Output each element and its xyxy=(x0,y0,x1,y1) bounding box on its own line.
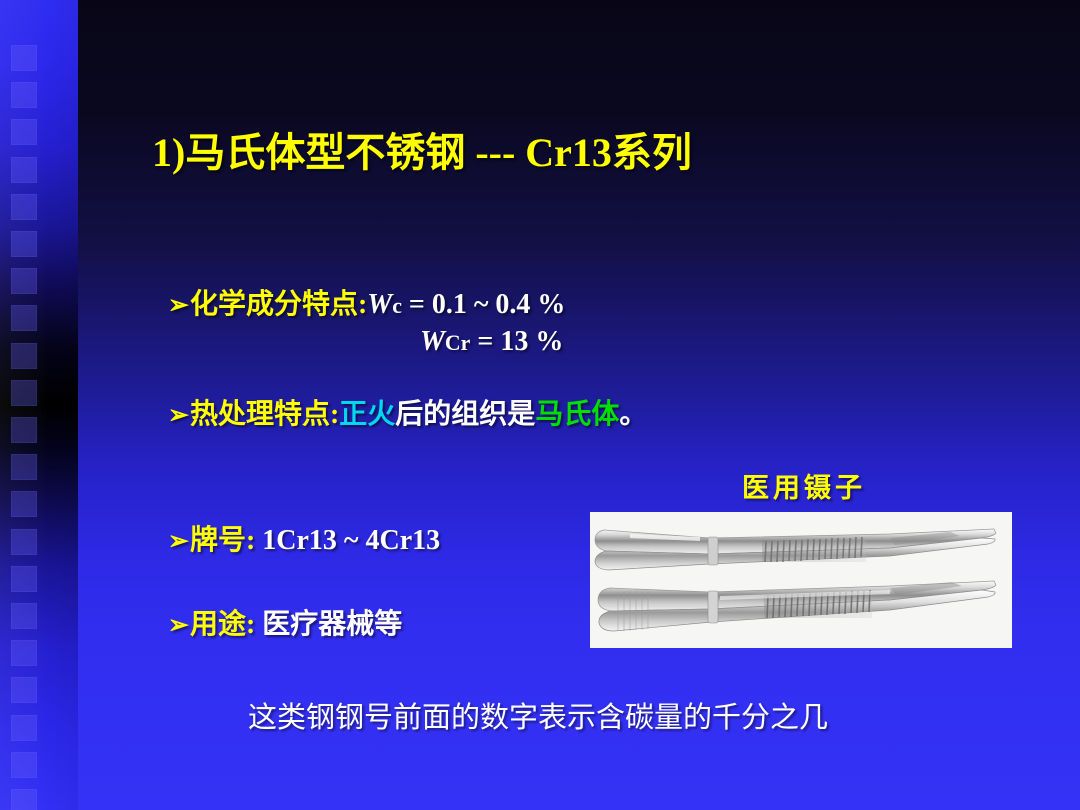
sidebar-chip xyxy=(11,380,37,406)
sidebar-chip xyxy=(11,343,37,369)
bullet-chemical-composition: ➢化学成分特点:Wc = 0.1 ~ 0.4 % xyxy=(168,282,565,322)
subscript-chromium: Cr xyxy=(445,331,470,355)
sidebar-chip xyxy=(11,417,37,443)
bullet-label-applications: 用途: xyxy=(190,609,255,640)
sidebar-chip xyxy=(11,640,37,666)
sidebar-chip xyxy=(11,491,37,517)
bullet-label-steel-grades: 牌号: xyxy=(190,525,255,556)
term-martensite: 马氏体 xyxy=(535,399,619,430)
bullet-label-chemical-composition: 化学成分特点: xyxy=(190,289,367,320)
medical-tweezers-photo xyxy=(590,512,1012,648)
footer-note: 这类钢钢号前面的数字表示含碳量的千分之几 xyxy=(248,694,828,736)
sidebar-chip xyxy=(11,157,37,183)
bullet-chromium-content: WCr = 13 % xyxy=(420,326,563,358)
value-chromium-amount: = 13 % xyxy=(470,326,563,357)
sidebar-chip xyxy=(11,119,37,145)
sidebar-chip xyxy=(11,566,37,592)
bullet-applications: ➢用途: 医疗器械等 xyxy=(168,602,402,642)
value-carbon-range: = 0.1 ~ 0.4 % xyxy=(402,289,566,320)
tweezers-illustration xyxy=(590,512,1012,648)
page-title: 1)马氏体型不锈钢 --- Cr13系列 xyxy=(152,120,972,178)
term-normalizing: 正火 xyxy=(339,399,395,430)
sidebar-chip xyxy=(11,529,37,555)
sidebar-chip xyxy=(11,45,37,71)
bullet-steel-grades: ➢牌号: 1Cr13 ~ 4Cr13 xyxy=(168,518,440,558)
sidebar-chip xyxy=(11,305,37,331)
bullet-heat-treatment: ➢热处理特点:正火后的组织是马氏体。 xyxy=(168,392,647,432)
value-applications: 医疗器械等 xyxy=(255,609,402,640)
sidebar-chip xyxy=(11,603,37,629)
bullet-arrow-icon: ➢ xyxy=(168,612,189,639)
sidebar-chip xyxy=(11,82,37,108)
sidebar-chip xyxy=(11,752,37,778)
sidebar-chip xyxy=(11,677,37,703)
decorative-sidebar-band xyxy=(0,0,78,810)
symbol-w-chromium: W xyxy=(420,326,445,357)
bullet-arrow-icon: ➢ xyxy=(168,292,189,319)
sidebar-chip xyxy=(11,268,37,294)
sentence-period: 。 xyxy=(619,399,647,430)
image-caption: 医用镊子 xyxy=(742,466,866,505)
sidebar-chip xyxy=(11,454,37,480)
bullet-label-heat-treatment: 热处理特点: xyxy=(190,399,339,430)
bullet-arrow-icon: ➢ xyxy=(168,528,189,555)
text-resulting-structure: 后的组织是 xyxy=(395,399,535,430)
sidebar-chip xyxy=(11,231,37,257)
subscript-carbon: c xyxy=(392,294,402,318)
sidebar-chip xyxy=(11,194,37,220)
symbol-w-carbon: W xyxy=(367,289,392,320)
sidebar-chip xyxy=(11,789,37,810)
bullet-arrow-icon: ➢ xyxy=(168,402,189,429)
value-steel-grades: 1Cr13 ~ 4Cr13 xyxy=(255,525,440,556)
sidebar-chip xyxy=(11,715,37,741)
slide-canvas: 1)马氏体型不锈钢 --- Cr13系列 ➢化学成分特点:Wc = 0.1 ~ … xyxy=(0,0,1080,810)
